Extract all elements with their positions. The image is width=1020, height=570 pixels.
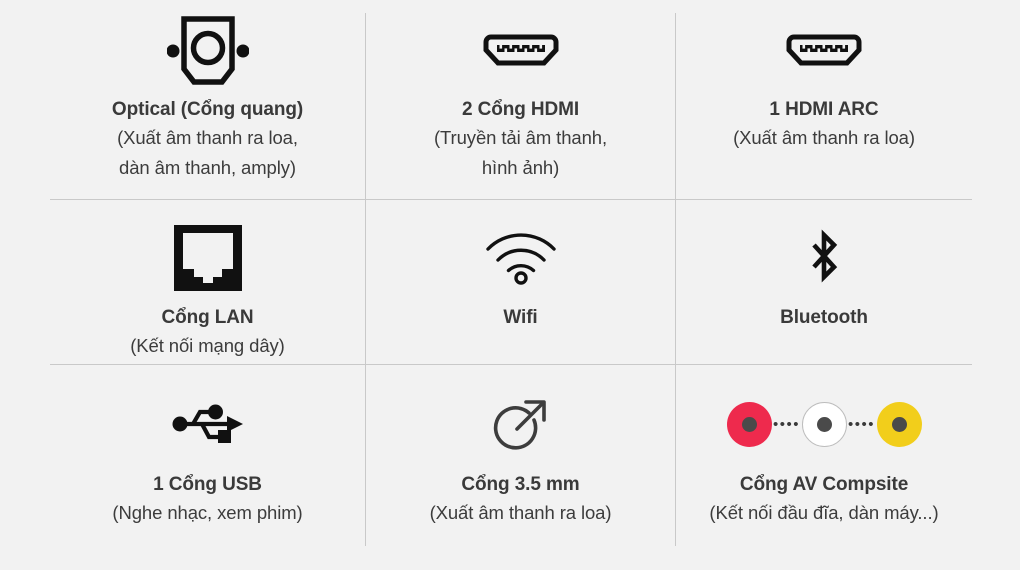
cell-subtitle-line1: (Xuất âm thanh ra loa) — [430, 500, 612, 526]
wifi-icon — [483, 222, 559, 294]
cell-subtitle-line1: (Truyền tải âm thanh, — [434, 125, 607, 151]
cell-title: Wifi — [503, 306, 537, 330]
cell-title: Cổng 3.5 mm — [461, 473, 579, 497]
cell-subtitle-line2: dàn âm thanh, amply) — [119, 155, 296, 181]
cell-title: 1 Cổng USB — [153, 473, 262, 497]
av-cable-dots-right: •••• — [847, 417, 877, 432]
cell-subtitle-line1: (Xuất âm thanh ra loa) — [733, 125, 915, 151]
av-cable-dots-left: •••• — [772, 417, 802, 432]
cell-subtitle-line1: (Kết nối mạng dây) — [130, 333, 285, 359]
cell-title: Bluetooth — [780, 306, 868, 330]
connectivity-grid: Optical (Cổng quang) (Xuất âm thanh ra l… — [0, 0, 1020, 570]
audio-jack-arrow-icon — [490, 387, 552, 461]
cell-optical: Optical (Cổng quang) (Xuất âm thanh ra l… — [50, 0, 365, 199]
av-composite-icon: •••• •••• — [727, 387, 922, 461]
cell-wifi: Wifi — [366, 200, 675, 364]
cell-title: Optical (Cổng quang) — [112, 98, 303, 122]
hdmi-port-icon — [478, 12, 564, 90]
optical-port-icon — [167, 12, 249, 90]
cell-hdmi: 2 Cổng HDMI (Truyền tải âm thanh, hình ả… — [366, 0, 675, 199]
rca-pin — [892, 417, 907, 432]
white-rca-icon — [802, 402, 847, 447]
cell-bluetooth: Bluetooth — [676, 200, 972, 364]
cell-lan: Cổng LAN (Kết nối mạng dây) — [50, 200, 365, 364]
cell-subtitle-line1: (Kết nối đầu đĩa, dàn máy...) — [709, 500, 938, 526]
cell-title: 2 Cổng HDMI — [462, 98, 579, 122]
cell-subtitle-line1: (Xuất âm thanh ra loa, — [117, 125, 298, 151]
lan-port-icon — [174, 222, 242, 294]
cell-title: Cổng AV Compsite — [740, 473, 908, 497]
usb-icon — [169, 387, 247, 461]
hdmi-port-icon — [781, 12, 867, 90]
yellow-rca-icon — [877, 402, 922, 447]
rca-pin — [817, 417, 832, 432]
cell-subtitle-line1: (Nghe nhạc, xem phim) — [112, 500, 302, 526]
rca-pin — [742, 417, 757, 432]
cell-subtitle-line2: hình ảnh) — [482, 155, 559, 181]
cell-jack35: Cổng 3.5 mm (Xuất âm thanh ra loa) — [366, 365, 675, 570]
bluetooth-icon — [801, 222, 847, 294]
red-rca-icon — [727, 402, 772, 447]
cell-title: 1 HDMI ARC — [769, 98, 878, 122]
cell-title: Cổng LAN — [161, 306, 253, 330]
cell-hdmi-arc: 1 HDMI ARC (Xuất âm thanh ra loa) — [676, 0, 972, 199]
cell-av-composite: •••• •••• Cổng AV Compsite (Kết nối đầu … — [676, 365, 972, 570]
av-connector-row: •••• •••• — [727, 402, 922, 447]
cell-usb: 1 Cổng USB (Nghe nhạc, xem phim) — [50, 365, 365, 570]
